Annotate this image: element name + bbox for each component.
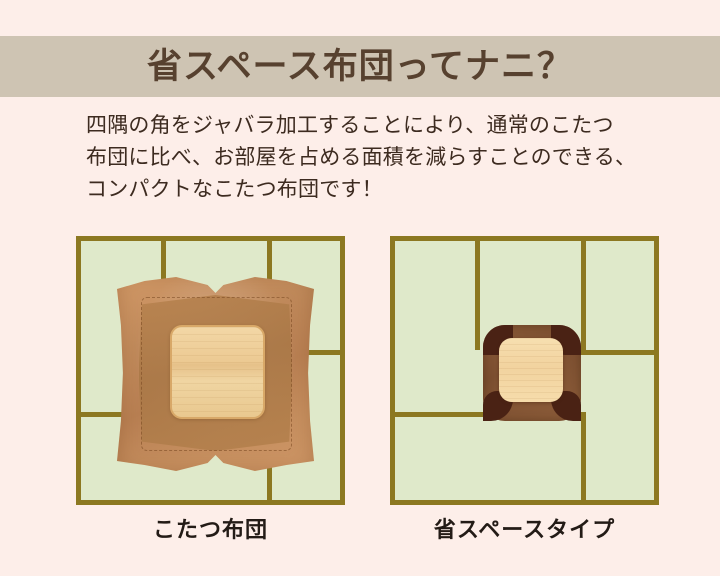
description-line-2: 布団に比べ、お部屋を占める面積を減らすことのできる、 (86, 142, 666, 174)
tatami-floor-space-saving (390, 236, 659, 505)
kotatsu-tabletop-large (170, 325, 265, 419)
description-line-3: コンパクトなこたつ布団です！ (86, 174, 666, 206)
kotatsu-futon-compact (483, 325, 581, 421)
description-text: 四隅の角をジャバラ加工することにより、通常のこたつ 布団に比べ、お部屋を占める面… (86, 110, 666, 206)
tatami-seam-vertical-top-left (475, 241, 480, 350)
tatami-seam-horizontal-right (581, 350, 654, 355)
kotatsu-futon-large (117, 273, 314, 473)
tatami-seam-vertical-top-right (581, 241, 586, 350)
tatami-floor-standard (76, 236, 345, 505)
slide-root: 省スペース布団ってナニ？ 四隅の角をジャバラ加工することにより、通常のこたつ 布… (0, 0, 720, 576)
caption-standard-futon: こたつ布団 (76, 512, 345, 544)
comparison-panels (0, 236, 720, 536)
tatami-seam-vertical-bottom-right (581, 412, 586, 500)
caption-space-saving-futon: 省スペースタイプ (390, 512, 659, 544)
title-banner: 省スペース布団ってナニ？ (0, 36, 720, 97)
description-line-1: 四隅の角をジャバラ加工することにより、通常のこたつ (86, 110, 666, 142)
kotatsu-tabletop-compact (499, 338, 564, 401)
page-title: 省スペース布団ってナニ？ (147, 49, 573, 84)
panel-space-saving-futon (390, 236, 659, 505)
panel-standard-futon (76, 236, 345, 505)
